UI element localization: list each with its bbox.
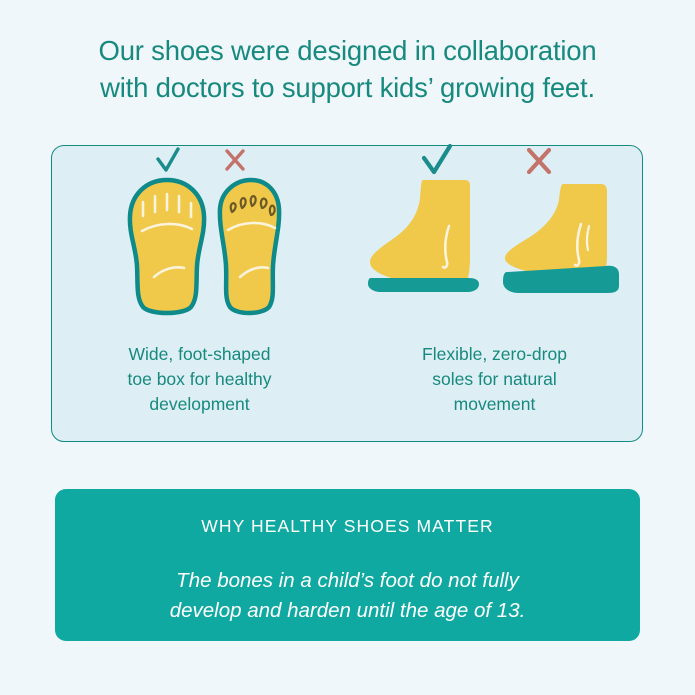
banner-body-line-1: The bones in a child’s foot do not fully — [115, 566, 580, 596]
infographic-page: Our shoes were designed in collaboration… — [0, 0, 695, 695]
raised-heel-boot-illustration — [495, 174, 625, 302]
banner-body-line-2: develop and harden until the age of 13. — [115, 596, 580, 626]
wide-foot-illustration — [124, 176, 210, 316]
banner-body: The bones in a child’s foot do not fully… — [55, 566, 640, 626]
headline-line-2: with doctors to support kids’ growing fe… — [48, 69, 647, 106]
caption-line-2: toe box for healthy — [78, 367, 321, 392]
caption-line-2: soles for natural — [373, 367, 616, 392]
features-columns: Wide, foot-shaped toe box for healthy de… — [52, 146, 642, 441]
feature-toe-box: Wide, foot-shaped toe box for healthy de… — [52, 146, 347, 441]
flat-sole-boot-illustration — [365, 174, 489, 302]
headline-line-1: Our shoes were designed in collaboration — [48, 32, 647, 69]
caption-line-3: movement — [373, 392, 616, 417]
narrow-foot-illustration — [212, 176, 290, 316]
caption-line-3: development — [78, 392, 321, 417]
why-healthy-shoes-banner: WHY HEALTHY SHOES MATTER The bones in a … — [55, 489, 640, 641]
toe-box-caption: Wide, foot-shaped toe box for healthy de… — [52, 342, 347, 417]
sole-caption: Flexible, zero-drop soles for natural mo… — [347, 342, 642, 417]
caption-line-1: Flexible, zero-drop — [373, 342, 616, 367]
banner-title: WHY HEALTHY SHOES MATTER — [55, 514, 640, 538]
toe-box-illustrations — [52, 168, 347, 318]
sole-illustrations — [347, 168, 642, 318]
caption-line-1: Wide, foot-shaped — [78, 342, 321, 367]
page-title: Our shoes were designed in collaboration… — [0, 32, 695, 106]
features-card: Wide, foot-shaped toe box for healthy de… — [51, 145, 643, 442]
feature-zero-drop-sole: Flexible, zero-drop soles for natural mo… — [347, 146, 642, 441]
